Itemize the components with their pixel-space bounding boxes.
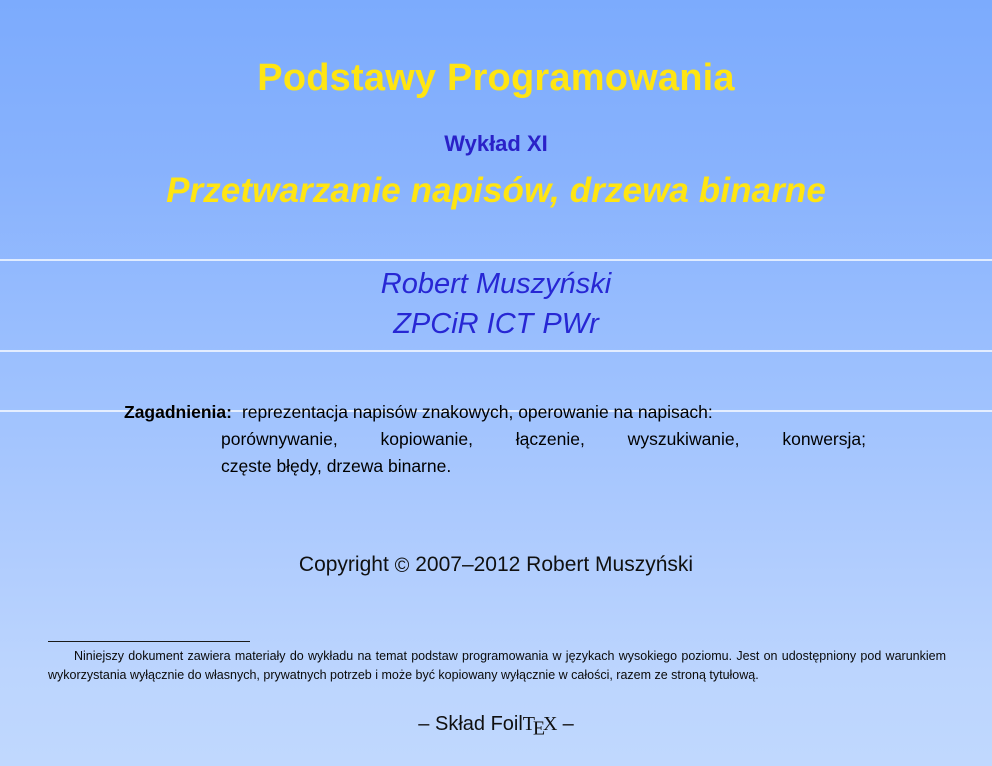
affiliation-university: PWr bbox=[542, 308, 598, 340]
lecture-topic: Przetwarzanie napisów, drzewa binarne bbox=[0, 171, 992, 211]
topics-line-1: reprezentacja napisów znakowych, operowa… bbox=[242, 399, 866, 426]
footnote-body: Niniejszy dokument zawiera materiały do … bbox=[48, 649, 946, 682]
topics-label: Zagadnienia: bbox=[124, 399, 242, 426]
tex-letter-x: X bbox=[543, 713, 557, 735]
footer-credit: – Skład FoilTEX – bbox=[0, 713, 992, 736]
copyright-years-holder: 2007–2012 Robert Muszyński bbox=[415, 553, 693, 576]
author-affiliation: ZPCiR ICTPWr bbox=[0, 308, 992, 341]
copyright-line: Copyright © 2007–2012 Robert Muszyński bbox=[0, 553, 992, 577]
footnote-text: Niniejszy dokument zawiera materiały do … bbox=[48, 647, 946, 685]
topics-line-3: częste błędy, drzewa binarne. bbox=[221, 453, 866, 480]
tex-letter-e: E bbox=[533, 718, 545, 741]
footnote-separator-rule bbox=[48, 641, 250, 642]
topics-first-row: Zagadnienia: reprezentacja napisów znako… bbox=[124, 399, 866, 426]
lecture-number: Wykład XI bbox=[0, 131, 992, 157]
topics-block: Zagadnienia: reprezentacja napisów znako… bbox=[124, 399, 866, 480]
footer-dash-left: – bbox=[418, 713, 429, 735]
slide-canvas: Podstawy Programowania Wykład XI Przetwa… bbox=[0, 0, 992, 766]
copyright-word: Copyright bbox=[299, 553, 389, 576]
separator-rule-top bbox=[0, 259, 992, 261]
footer-label: Skład Foil bbox=[435, 713, 523, 735]
separator-rule-middle bbox=[0, 350, 992, 352]
footer-dash-right: – bbox=[563, 713, 574, 735]
tex-logo: TEX bbox=[523, 713, 557, 735]
author-name: Robert Muszyński bbox=[0, 268, 992, 301]
copyright-icon: © bbox=[395, 555, 410, 578]
affiliation-institute: ZPCiR ICT bbox=[393, 308, 533, 340]
page-title: Podstawy Programowania bbox=[0, 58, 992, 100]
topics-line-2: porównywanie, kopiowanie, łączenie, wysz… bbox=[221, 426, 866, 453]
